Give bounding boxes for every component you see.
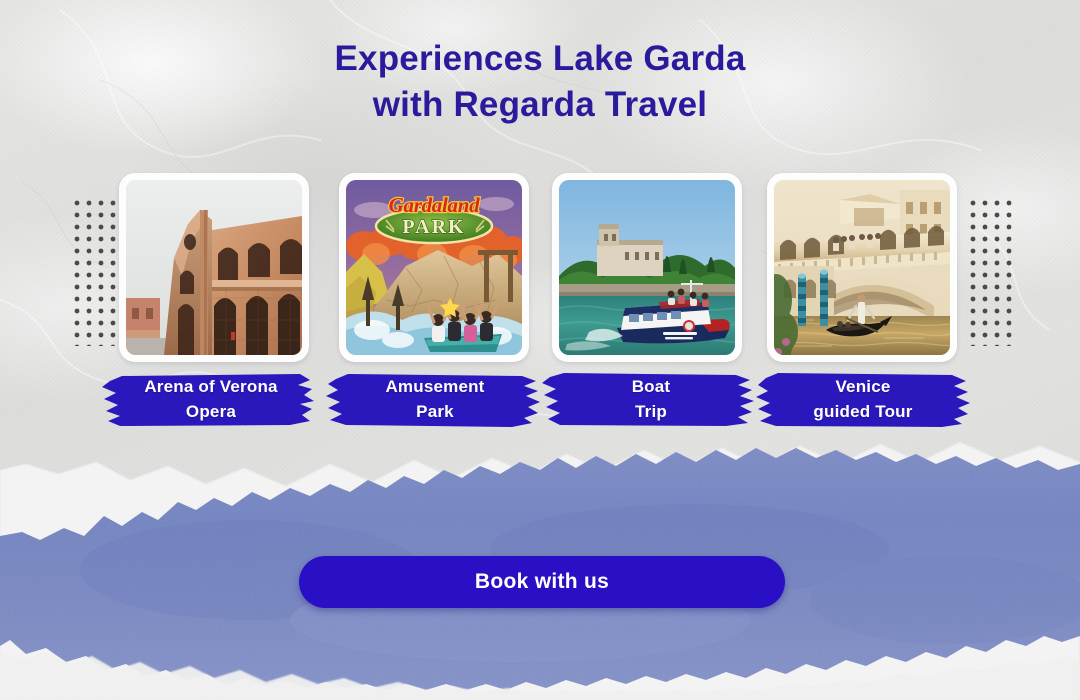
photo-gardaland-park: PARK Gardaland bbox=[346, 180, 522, 355]
banner-line-1: Venice bbox=[835, 375, 890, 400]
banner-text: Arena of Verona Opera bbox=[100, 371, 322, 429]
svg-text:PARK: PARK bbox=[402, 216, 465, 238]
page-title: Experiences Lake Garda with Regarda Trav… bbox=[0, 36, 1080, 127]
title-line-1: Experiences Lake Garda bbox=[0, 36, 1080, 82]
experience-card-venice-guided-tour[interactable] bbox=[767, 173, 957, 362]
experience-card-boat-trip[interactable] bbox=[552, 173, 742, 362]
banner-text: Venice guided Tour bbox=[752, 371, 974, 429]
label-banner-amusement-park: Amusement Park bbox=[324, 371, 546, 429]
banner-line-1: Amusement bbox=[385, 375, 484, 400]
banner-line-2: Opera bbox=[186, 400, 236, 425]
label-banner-venice-guided-tour: Venice guided Tour bbox=[752, 371, 974, 429]
banner-text: Amusement Park bbox=[324, 371, 546, 429]
experience-card-arena-of-verona[interactable] bbox=[119, 173, 309, 362]
photo-arena-of-verona bbox=[126, 180, 302, 355]
banner-line-1: Boat bbox=[632, 375, 671, 400]
banner-line-2: guided Tour bbox=[813, 400, 912, 425]
experience-card-amusement-park[interactable]: PARK Gardaland bbox=[339, 173, 529, 362]
svg-text:Gardaland: Gardaland bbox=[389, 193, 480, 217]
photo-venice-rialto-bridge bbox=[774, 180, 950, 355]
banner-line-2: Park bbox=[416, 400, 454, 425]
book-with-us-button[interactable]: Book with us bbox=[299, 556, 785, 608]
poster-canvas: Experiences Lake Garda with Regarda Trav… bbox=[0, 0, 1080, 700]
label-banner-arena-of-verona: Arena of Verona Opera bbox=[100, 371, 322, 429]
label-banner-boat-trip: Boat Trip bbox=[540, 371, 762, 429]
banner-line-2: Trip bbox=[635, 400, 667, 425]
photo-boat-trip bbox=[559, 180, 735, 355]
title-line-2: with Regarda Travel bbox=[0, 82, 1080, 128]
banner-line-1: Arena of Verona bbox=[144, 375, 277, 400]
experience-card-row: PARK Gardaland bbox=[0, 173, 1080, 365]
banner-text: Boat Trip bbox=[540, 371, 762, 429]
